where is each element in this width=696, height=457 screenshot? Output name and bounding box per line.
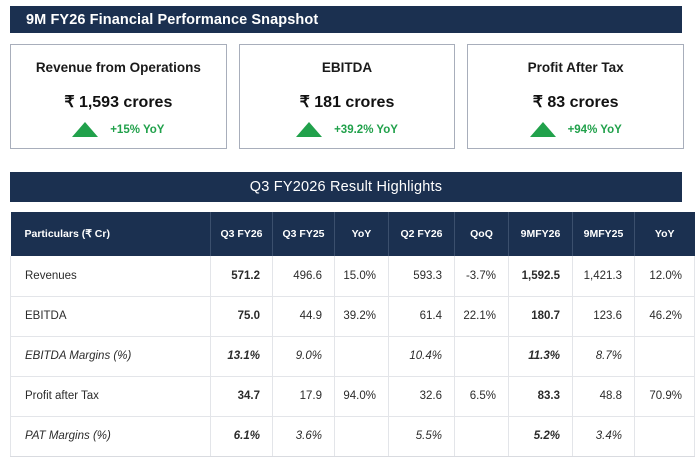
table-cell: 180.7 — [509, 296, 573, 336]
table-cell: 5.2% — [509, 416, 573, 456]
kpi-label: Profit After Tax — [528, 60, 624, 75]
table-cell: 571.2 — [211, 256, 273, 296]
triangle-up-icon — [530, 122, 556, 137]
column-header-qoq[interactable]: QoQ — [455, 212, 509, 256]
table-cell: 496.6 — [273, 256, 335, 296]
kpi-card-row: Revenue from Operations ₹ 1,593 crores +… — [10, 44, 684, 149]
table-cell: 9.0% — [273, 336, 335, 376]
kpi-delta-label: +15% YoY — [110, 124, 164, 136]
table-cell: 22.1% — [455, 296, 509, 336]
row-label: Revenues — [11, 256, 211, 296]
table-body: Revenues571.2496.615.0%593.3-3.7%1,592.5… — [11, 256, 695, 456]
table-header: Particulars (₹ Cr)Q3 FY26Q3 FY25YoYQ2 FY… — [11, 212, 695, 256]
results-table-wrapper: Particulars (₹ Cr)Q3 FY26Q3 FY25YoYQ2 FY… — [10, 212, 682, 457]
table-cell: 3.6% — [273, 416, 335, 456]
column-header-9mfy26[interactable]: 9MFY26 — [509, 212, 573, 256]
section-title: Q3 FY2026 Result Highlights — [250, 179, 442, 195]
table-row: EBITDA Margins (%)13.1%9.0%10.4%11.3%8.7… — [11, 336, 695, 376]
table-cell: 5.5% — [389, 416, 455, 456]
table-cell: 15.0% — [335, 256, 389, 296]
row-label: EBITDA Margins (%) — [11, 336, 211, 376]
table-cell — [635, 336, 695, 376]
table-cell: 17.9 — [273, 376, 335, 416]
kpi-delta: +39.2% YoY — [296, 122, 398, 137]
table-cell: 44.9 — [273, 296, 335, 336]
column-header-yoy[interactable]: YoY — [335, 212, 389, 256]
results-table: Particulars (₹ Cr)Q3 FY26Q3 FY25YoYQ2 FY… — [10, 212, 695, 457]
table-cell: 1,592.5 — [509, 256, 573, 296]
table-cell: 48.8 — [573, 376, 635, 416]
kpi-value: ₹ 83 crores — [533, 92, 619, 112]
table-cell: 3.4% — [573, 416, 635, 456]
table-row: Revenues571.2496.615.0%593.3-3.7%1,592.5… — [11, 256, 695, 296]
section-banner: Q3 FY2026 Result Highlights — [10, 172, 682, 202]
table-cell: 8.7% — [573, 336, 635, 376]
column-header-particulars[interactable]: Particulars (₹ Cr) — [11, 212, 211, 256]
page-title: 9M FY26 Financial Performance Snapshot — [10, 12, 318, 28]
kpi-delta: +15% YoY — [72, 122, 164, 137]
triangle-up-icon — [72, 122, 98, 137]
table-cell: 32.6 — [389, 376, 455, 416]
triangle-up-icon — [296, 122, 322, 137]
kpi-value: ₹ 181 crores — [300, 92, 395, 112]
column-header-q3-fy25[interactable]: Q3 FY25 — [273, 212, 335, 256]
column-header-9mfy25[interactable]: 9MFY25 — [573, 212, 635, 256]
table-header-row: Particulars (₹ Cr)Q3 FY26Q3 FY25YoYQ2 FY… — [11, 212, 695, 256]
table-cell: 46.2% — [635, 296, 695, 336]
table-cell: 75.0 — [211, 296, 273, 336]
kpi-delta-label: +94% YoY — [568, 124, 622, 136]
kpi-card-revenue: Revenue from Operations ₹ 1,593 crores +… — [10, 44, 227, 149]
table-cell — [455, 336, 509, 376]
financial-snapshot-page: 9M FY26 Financial Performance Snapshot R… — [0, 0, 696, 453]
table-cell: -3.7% — [455, 256, 509, 296]
column-header-q2-fy26[interactable]: Q2 FY26 — [389, 212, 455, 256]
column-header-q3-fy26[interactable]: Q3 FY26 — [211, 212, 273, 256]
kpi-value: ₹ 1,593 crores — [64, 92, 172, 112]
row-label: PAT Margins (%) — [11, 416, 211, 456]
table-cell: 6.5% — [455, 376, 509, 416]
table-cell — [455, 416, 509, 456]
table-cell — [635, 416, 695, 456]
table-cell — [335, 336, 389, 376]
table-cell: 11.3% — [509, 336, 573, 376]
table-cell — [335, 416, 389, 456]
kpi-card-profit-after-tax: Profit After Tax ₹ 83 crores +94% YoY — [467, 44, 684, 149]
table-row: EBITDA75.044.939.2%61.422.1%180.7123.646… — [11, 296, 695, 336]
table-cell: 123.6 — [573, 296, 635, 336]
table-cell: 13.1% — [211, 336, 273, 376]
table-row: Profit after Tax34.717.994.0%32.66.5%83.… — [11, 376, 695, 416]
table-cell: 70.9% — [635, 376, 695, 416]
column-header-yoy[interactable]: YoY — [635, 212, 695, 256]
table-cell: 10.4% — [389, 336, 455, 376]
table-cell: 1,421.3 — [573, 256, 635, 296]
table-cell: 39.2% — [335, 296, 389, 336]
table-cell: 34.7 — [211, 376, 273, 416]
table-cell: 94.0% — [335, 376, 389, 416]
kpi-delta-label: +39.2% YoY — [334, 124, 398, 136]
header-banner: 9M FY26 Financial Performance Snapshot — [10, 6, 682, 33]
row-label: EBITDA — [11, 296, 211, 336]
row-label: Profit after Tax — [11, 376, 211, 416]
table-cell: 593.3 — [389, 256, 455, 296]
table-cell: 12.0% — [635, 256, 695, 296]
table-row: PAT Margins (%)6.1%3.6%5.5%5.2%3.4% — [11, 416, 695, 456]
kpi-label: EBITDA — [322, 60, 372, 75]
kpi-label: Revenue from Operations — [36, 60, 201, 75]
table-cell: 6.1% — [211, 416, 273, 456]
table-cell: 61.4 — [389, 296, 455, 336]
kpi-delta: +94% YoY — [530, 122, 622, 137]
kpi-card-ebitda: EBITDA ₹ 181 crores +39.2% YoY — [239, 44, 456, 149]
table-cell: 83.3 — [509, 376, 573, 416]
